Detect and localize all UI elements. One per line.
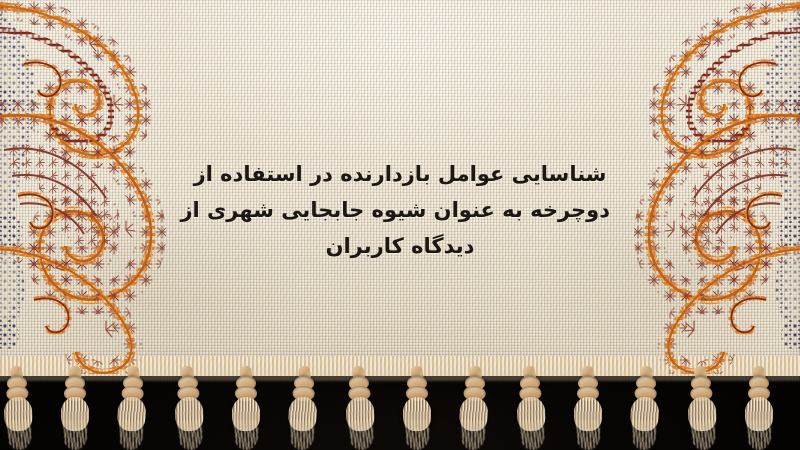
tassel-fringe	[0, 366, 800, 450]
title-line-3: دیدگاه کاربران	[190, 228, 610, 264]
tassel-fibers	[520, 419, 545, 450]
title-line-2: دوچرخه به عنوان شیوه جابجایی شهری از	[190, 192, 610, 228]
tassel	[223, 366, 269, 450]
tassel-fibers	[460, 419, 485, 450]
tassel	[677, 365, 727, 450]
tassel	[736, 366, 782, 450]
tassel	[565, 366, 611, 450]
tassel-fibers	[631, 419, 656, 450]
tassel-fibers	[691, 419, 716, 450]
tassel	[278, 365, 328, 450]
tassel	[52, 366, 98, 450]
tassel-fibers	[7, 419, 32, 450]
tassel-fibers	[405, 420, 429, 450]
tassel	[620, 365, 670, 450]
tassel-fibers	[118, 419, 143, 450]
tassel-fibers	[349, 419, 374, 450]
tassel-fibers	[576, 420, 600, 450]
tassel-fibers	[178, 419, 203, 450]
tassel	[449, 365, 499, 450]
tassel-fibers	[289, 419, 314, 450]
tassel	[0, 365, 43, 450]
tassel-fibers	[63, 420, 87, 450]
tassel	[164, 365, 214, 450]
title-card-stage: شناسایی عوامل بازدارنده در استفاده از دو…	[0, 0, 800, 450]
tassel-fibers	[747, 420, 771, 450]
title-line-1: شناسایی عوامل بازدارنده در استفاده از	[190, 156, 610, 192]
tassel	[506, 365, 556, 450]
page-title: شناسایی عوامل بازدارنده در استفاده از دو…	[190, 156, 610, 264]
tassel	[335, 365, 385, 450]
tassel	[394, 366, 440, 450]
tassel-fibers	[234, 420, 258, 450]
tassel	[107, 365, 157, 450]
